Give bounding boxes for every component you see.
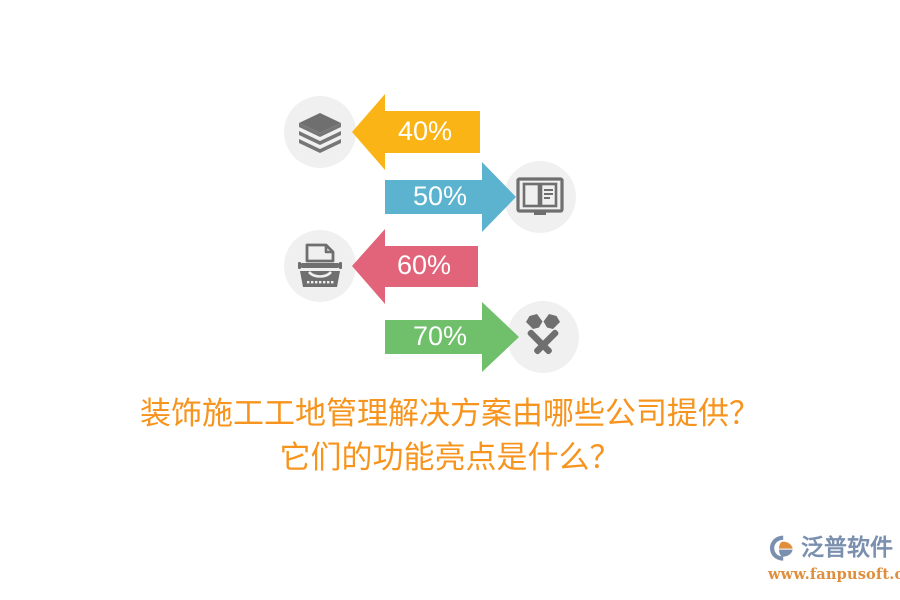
brand-logo[interactable]: 泛普软件 www.fanpusoft.com <box>768 531 892 587</box>
arrow-label-70: 70% <box>413 321 467 351</box>
arrow-infographic: 40% 50% 60% <box>0 0 900 390</box>
open-book-icon <box>518 179 562 215</box>
logo-row: 泛普软件 <box>768 531 892 565</box>
fanpu-logo-mark <box>768 533 798 563</box>
logo-name: 泛普软件 <box>801 533 893 563</box>
headline-line-2: 它们的功能亮点是什么？ <box>0 436 900 480</box>
chart-row-3: 60% <box>284 229 478 304</box>
headline-line-1: 装饰施工工地管理解决方案由哪些公司提供？ <box>0 392 900 436</box>
chart-row-2: 50% <box>385 161 576 233</box>
arrow-label-60: 60% <box>397 250 451 280</box>
arrow-label-40: 40% <box>398 116 452 146</box>
logo-url: www.fanpusoft.com <box>768 566 892 583</box>
chart-row-4: 70% <box>385 301 579 373</box>
chart-row-1: 40% <box>284 94 480 170</box>
screenshot-canvas: 40% 50% 60% <box>0 0 900 600</box>
headline-text: 装饰施工工地管理解决方案由哪些公司提供？ 它们的功能亮点是什么？ <box>0 392 900 480</box>
arrow-label-50: 50% <box>413 181 467 211</box>
